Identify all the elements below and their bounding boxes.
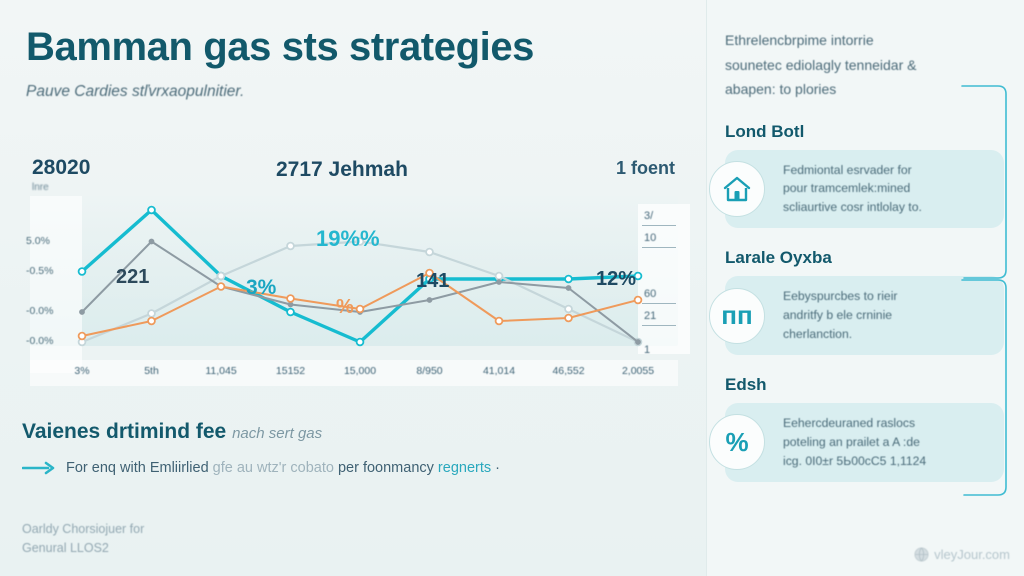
panel-card-title: Lond Botl [725, 122, 1004, 142]
chart-point [218, 283, 225, 290]
panel-intro-line-3: abapen: to plories [725, 77, 1004, 102]
chart-right-rule [642, 225, 676, 226]
chart-y-tick: -0.5% [26, 265, 53, 277]
chart-point [79, 268, 86, 275]
panel-card-text-line: scliaurtive cosr intlolay to. [783, 198, 922, 217]
panel-card-body[interactable]: Fedmiontal esrvader forpour tramcemlek:m… [725, 150, 1004, 229]
chart-right-tick: 10 [644, 232, 656, 244]
chart-right-tick: 21 [644, 310, 656, 322]
panel-intro-line-2: sounetec ediolagly tenneidar & [725, 53, 1004, 78]
panel-card-body[interactable]: %Eehercdeuraned raslocspoteling an prail… [725, 403, 1004, 482]
chart-point [287, 243, 294, 250]
footnote-line-2: Genural LLOS2 [22, 539, 144, 558]
insight-heading: Vaienes drtimind fee nach sert gas [22, 420, 662, 444]
chart-right-tick: 60 [644, 288, 656, 300]
chart-annotation: 19%% [316, 226, 380, 252]
chart-x-tick: 3% [74, 365, 89, 377]
chart-point [148, 310, 155, 317]
chart-y-tick: 5.0% [26, 235, 50, 247]
chart-point [636, 340, 641, 345]
panel-card-2[interactable]: Edsh%Eehercdeuraned raslocspoteling an p… [725, 375, 1004, 482]
chart-x-tick: 46,552 [552, 365, 584, 377]
chart-x-tick: 41,014 [483, 365, 515, 377]
panel-intro-line-1: Ethrelencbrpime intorrie [725, 28, 1004, 53]
chart-annotation: 221 [116, 266, 149, 289]
footnote: Oarldy Chorsiojuer for Genural LLOS2 [22, 520, 144, 559]
insight-heading-main: Vaienes drtimind fee [22, 420, 226, 443]
chart-y-tick: -0.0% [26, 305, 53, 317]
arrow-right-icon [22, 461, 56, 475]
chart-point [80, 310, 85, 315]
chart-point [357, 339, 364, 346]
bullet-end: · [495, 460, 500, 476]
panel-card-text-line: andritfy b ele crninie [783, 306, 897, 325]
chart-annotation: 141 [416, 270, 449, 293]
chart-point [565, 306, 572, 313]
panel-card-text-line: poteling an prailet a A :de [783, 433, 926, 452]
chart-right-tick: 1 [644, 344, 650, 356]
insight-bullet-row: For enq with Emliirlied gfe au wtz'r cob… [22, 460, 662, 476]
chart-x-tick: 11,045 [205, 365, 236, 377]
panel-card-text-line: cherlanction. [783, 325, 897, 344]
chart-right-rule [642, 325, 676, 326]
chart-annotation: % [336, 296, 354, 319]
insight-heading-muted: nach sert gas [232, 425, 322, 442]
panel-card-text-line: Eehercdeuraned raslocs [783, 414, 926, 433]
chart-x-tick: 8/950 [416, 365, 442, 377]
insight-bullet-text: For enq with Emliirlied gfe au wtz'r cob… [66, 460, 500, 476]
chart-point [565, 315, 572, 322]
bullet-lead: For enq with Emliirlied [66, 460, 209, 476]
insight-block: Vaienes drtimind fee nach sert gas For e… [22, 420, 662, 476]
chart-card: 28020 2717 Jehmah 1 foent lnre 5.0%-0.5%… [18, 148, 690, 393]
chart-x-tick: 2,0055 [622, 365, 654, 377]
panel-card-text-line: Eebyspurcbes to rieir [783, 287, 897, 306]
chart-point [79, 333, 86, 340]
panel-card-0[interactable]: Lond BotlFedmiontal esrvader forpour tra… [725, 122, 1004, 229]
chart-point [287, 295, 294, 302]
poster-root: Bamman gas sts strategies Pauve Cardies … [0, 0, 1024, 576]
page-title: Bamman gas sts strategies [26, 26, 680, 68]
chart-point [496, 273, 503, 280]
home-icon [709, 161, 765, 217]
bullet-accent: regnerts [438, 460, 491, 476]
chart-x-tick: 15,000 [344, 365, 376, 377]
watermark: vleyJour.com [914, 547, 1010, 562]
panel-card-text-line: Fedmiontal esrvader for [783, 161, 922, 180]
chart-point [148, 318, 155, 325]
chart-x-tick: 5th [144, 365, 159, 377]
chart-point [427, 298, 432, 303]
chart-point [566, 286, 571, 291]
panel-card-1[interactable]: Larale OyxbaппEebyspurcbes to rieirandri… [725, 248, 1004, 355]
panel-intro: Ethrelencbrpime intorrie sounetec ediola… [725, 28, 1004, 102]
panel-card-title: Larale Oyxba [725, 248, 1004, 268]
chart-right-rule [642, 303, 676, 304]
chart-point [496, 318, 503, 325]
chart-right-tick: 3/ [644, 210, 653, 222]
chart-line-orange-quaternary [82, 273, 638, 336]
chart-line-pale-secondary [82, 242, 638, 343]
right-panel: Ethrelencbrpime intorrie sounetec ediola… [706, 0, 1024, 576]
page-subtitle: Pauve Cardies stľvrxaopulnitier. [26, 83, 680, 101]
chart-annotation: 3% [246, 276, 276, 300]
chart-point [149, 239, 154, 244]
chart-line-gray-tertiary [82, 242, 638, 343]
panel-card-text: Eebyspurcbes to rieirandritfy b ele crni… [783, 287, 897, 344]
chart-point [287, 309, 294, 316]
panel-card-text: Fedmiontal esrvader forpour tramcemlek:m… [783, 161, 922, 218]
chart-point [565, 276, 572, 283]
panel-card-title: Edsh [725, 375, 1004, 395]
chart-point [148, 207, 155, 214]
chart-point [497, 280, 502, 285]
panel-card-text-line: icg. 0I0±r 5Ь00сС5 1,1124 [783, 452, 926, 471]
chart-point [357, 306, 364, 313]
arch-pair-icon: пп [709, 288, 765, 344]
panel-card-list: Lond BotlFedmiontal esrvader forpour tra… [725, 122, 1004, 482]
panel-card-body[interactable]: ппEebyspurcbes to rieirandritfy b ele cr… [725, 276, 1004, 355]
globe-icon [914, 547, 929, 562]
watermark-text: vleyJour.com [934, 547, 1010, 562]
chart-point [288, 302, 293, 307]
percent-icon: % [709, 414, 765, 470]
chart-y-tick: -0.0% [26, 335, 53, 347]
chart-point [635, 297, 642, 304]
footnote-line-1: Oarldy Chorsiojuer for [22, 520, 144, 539]
panel-card-text-line: pour tramcemlek:mined [783, 179, 922, 198]
chart-x-tick: 15152 [276, 365, 305, 377]
chart-annotation: 12% [596, 268, 636, 291]
chart-point [426, 249, 433, 256]
chart-right-rule [642, 247, 676, 248]
bullet-faded: gfe au wtz'r cobato [213, 460, 334, 476]
chart-point [218, 273, 225, 280]
bullet-tail: per foonmancy [338, 460, 434, 476]
panel-card-text: Eehercdeuraned raslocspoteling an praile… [783, 414, 926, 471]
